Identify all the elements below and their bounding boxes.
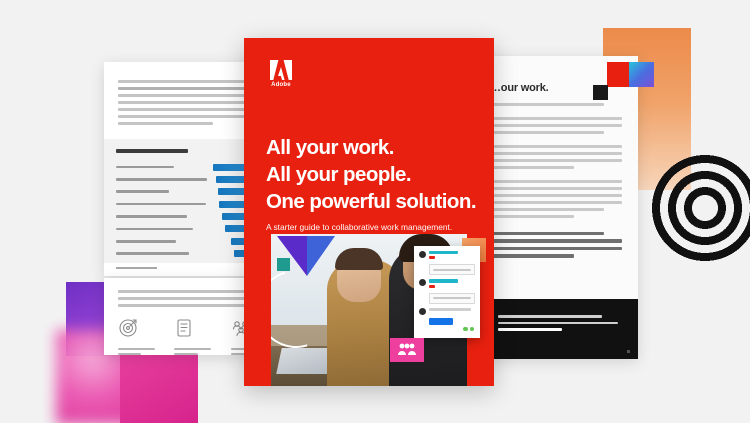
chat-input-field[interactable] bbox=[429, 264, 475, 275]
chart-category-label bbox=[116, 228, 193, 231]
red-accent-square bbox=[607, 62, 629, 87]
document-checklist-icon bbox=[174, 318, 214, 343]
chart-category-label bbox=[116, 190, 169, 193]
people-group-icon bbox=[397, 342, 417, 356]
chart-category-label bbox=[116, 166, 174, 169]
chat-input-field[interactable] bbox=[429, 293, 475, 304]
adobe-wordmark: Adobe bbox=[266, 82, 296, 88]
target-arrow-icon bbox=[118, 318, 158, 343]
chat-mockup bbox=[414, 246, 480, 338]
doc-right-paragraph bbox=[490, 145, 626, 169]
chart-source-note bbox=[116, 267, 157, 270]
chart-category-label bbox=[116, 240, 176, 243]
teal-square-shape bbox=[277, 258, 290, 271]
hero-composition: …our work. bbox=[0, 0, 750, 423]
step-item bbox=[174, 318, 214, 357]
cover-subtitle: A starter guide to collaborative work ma… bbox=[266, 222, 478, 233]
chart-category-label bbox=[116, 215, 187, 218]
cover-headline-group: All your work. All your people. One powe… bbox=[266, 134, 478, 233]
chart-category-label bbox=[116, 178, 207, 181]
adobe-a-logo-icon bbox=[270, 60, 292, 80]
chart-category-label bbox=[116, 203, 206, 206]
chat-message bbox=[419, 251, 475, 261]
people-badge bbox=[390, 338, 424, 362]
concentric-rings-decoration bbox=[645, 148, 750, 268]
doc-right-paragraph bbox=[490, 180, 626, 218]
step-label bbox=[174, 348, 214, 355]
status-dots bbox=[463, 327, 474, 332]
ebook-cover: Adobe All your work. All your people. On… bbox=[244, 38, 494, 386]
avatar-icon bbox=[419, 251, 426, 258]
doc-right-quote bbox=[490, 232, 626, 258]
headline-line-1: All your work. bbox=[266, 136, 394, 159]
page-number bbox=[627, 350, 630, 353]
chart-category-label bbox=[116, 252, 189, 255]
headline-line-3: One powerful solution. bbox=[266, 190, 476, 213]
doc-right-paragraph bbox=[490, 103, 626, 106]
headline-line-2: All your people. bbox=[266, 163, 411, 186]
chat-message bbox=[419, 308, 475, 315]
chat-submit-button[interactable] bbox=[429, 318, 453, 325]
chart-title bbox=[116, 149, 188, 153]
avatar-icon bbox=[419, 308, 426, 315]
chat-message bbox=[419, 279, 475, 289]
blue-triangle-shape bbox=[307, 236, 335, 276]
step-label bbox=[118, 348, 158, 355]
black-accent-square bbox=[593, 85, 608, 100]
gradient-accent-square bbox=[629, 62, 654, 87]
step-item bbox=[118, 318, 158, 357]
doc-right-paragraph bbox=[490, 117, 626, 134]
avatar-icon bbox=[419, 279, 426, 286]
adobe-logo: Adobe bbox=[266, 60, 296, 88]
read-full-story-link[interactable] bbox=[498, 328, 562, 331]
